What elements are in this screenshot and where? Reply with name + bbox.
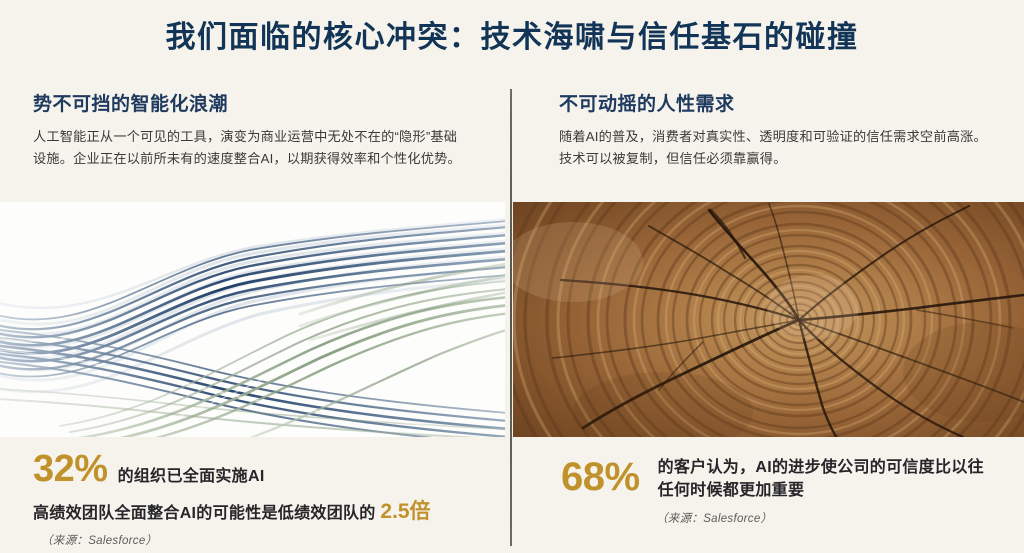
left-column-heading: 势不可挡的智能化浪潮 [33, 93, 228, 117]
left-stat-row-primary: 32% 的组织已全面实施AI [33, 447, 493, 491]
left-stat-caption: 的组织已全面实施AI [118, 465, 265, 488]
right-big-number: 68% [561, 454, 640, 500]
left-source-note: （来源：Salesforce） [41, 532, 493, 548]
left-stat-secondary-line: 高绩效团队全面整合AI的可能性是低绩效团队的 2.5倍 [33, 500, 493, 525]
slide-canvas: 我们面临的核心冲突：技术海啸与信任基石的碰撞 势不可挡的智能化浪潮 人工智能正从… [0, 0, 1024, 553]
left-big-number: 32% [33, 447, 108, 491]
abstract-wave-lines-image [0, 202, 505, 437]
left-column-body-text: 人工智能正从一个可见的工具，演变为商业运营中无处不在的“隐形”基础设施。企业正在… [33, 126, 467, 170]
right-stat-row-primary: 68% 的客户认为，AI的进步使公司的可信度比以往任何时候都更加重要 [561, 452, 991, 502]
tree-rings-cross-section-image [513, 202, 1024, 437]
right-column-body-text: 随着AI的普及，消费者对真实性、透明度和可验证的信任需求空前高涨。技术可以被复制… [559, 126, 993, 170]
right-statistics-block: 68% 的客户认为，AI的进步使公司的可信度比以往任何时候都更加重要 （来源：S… [561, 452, 991, 526]
left-stat-secondary-prefix: 高绩效团队全面整合AI的可能性是低绩效团队的 [33, 505, 380, 522]
page-title: 我们面临的核心冲突：技术海啸与信任基石的碰撞 [0, 18, 1024, 58]
left-stat-multiplier: 2.5倍 [380, 500, 430, 523]
right-stat-caption: 的客户认为，AI的进步使公司的可信度比以往任何时候都更加重要 [658, 456, 991, 502]
column-divider [510, 89, 512, 546]
right-column-heading: 不可动摇的人性需求 [559, 93, 735, 117]
left-statistics-block: 32% 的组织已全面实施AI 高绩效团队全面整合AI的可能性是低绩效团队的 2.… [33, 447, 493, 548]
right-source-note: （来源：Salesforce） [656, 510, 991, 526]
